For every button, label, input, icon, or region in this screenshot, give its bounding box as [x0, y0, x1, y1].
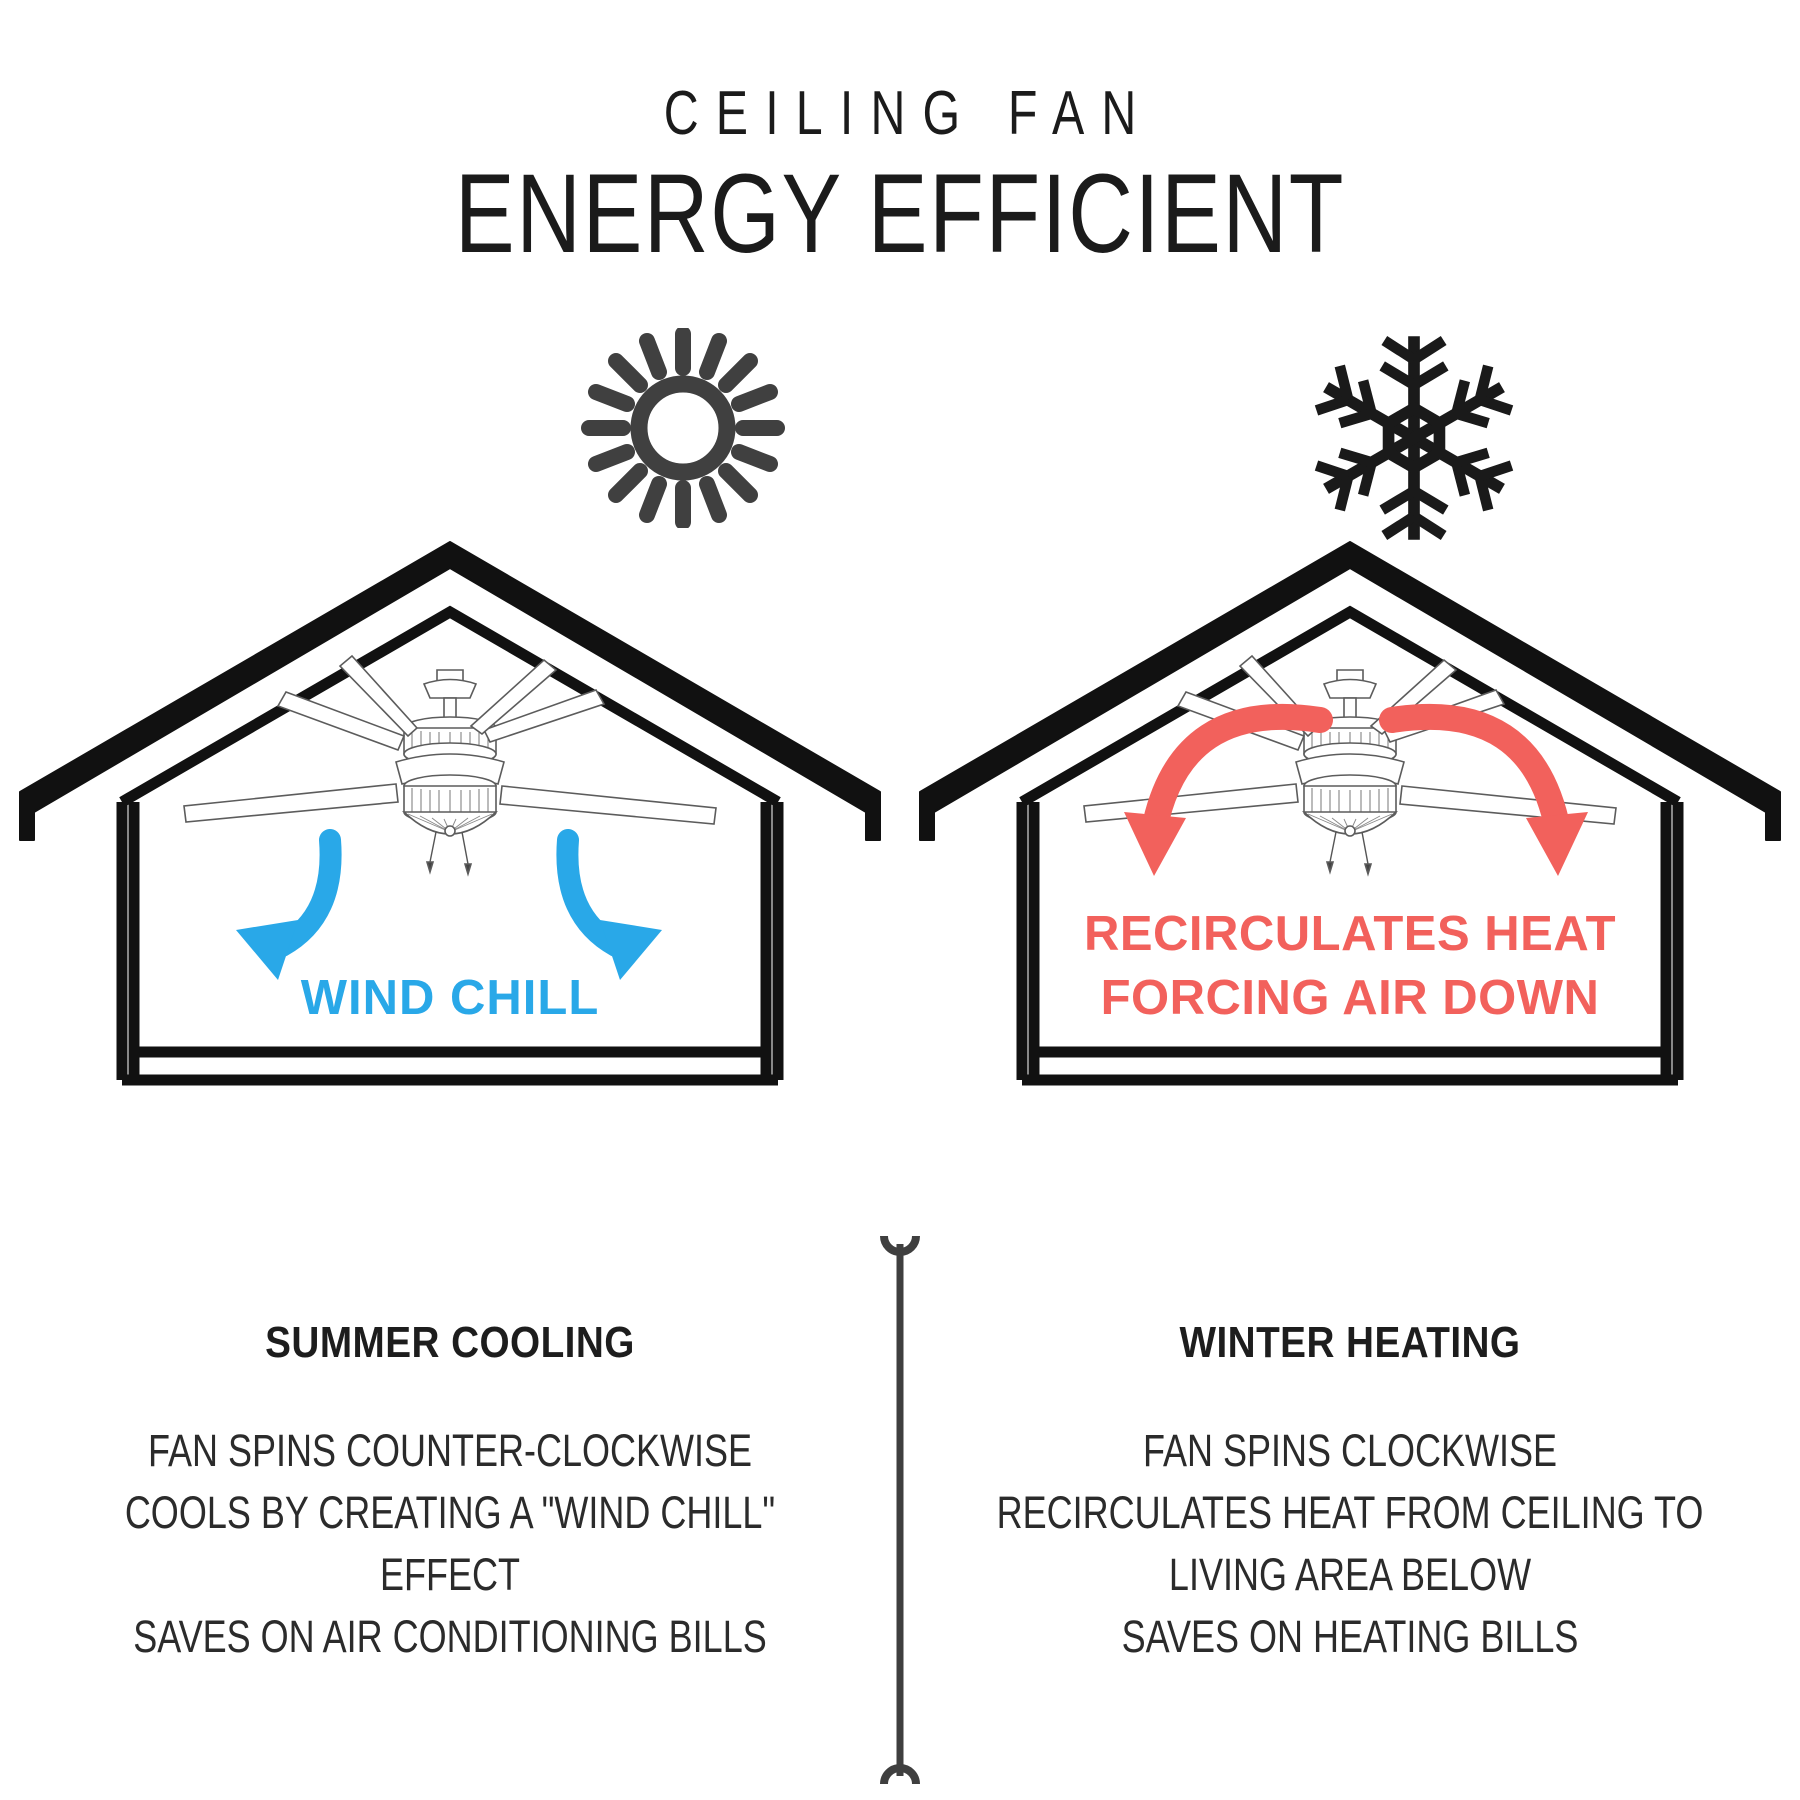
- caption-line: FAN SPINS COUNTER-CLOCKWISE: [90, 1420, 810, 1482]
- sun-icon: [578, 328, 788, 528]
- caption-body-winter: FAN SPINS CLOCKWISE RECIRCULATES HEAT FR…: [900, 1420, 1800, 1668]
- center-divider: [872, 1230, 928, 1790]
- winter-label-line-2: FORCING AIR DOWN: [1101, 971, 1600, 1025]
- airflow-arrows-summer: [282, 840, 616, 946]
- caption-line: COOLS BY CREATING A "WIND CHILL": [90, 1482, 810, 1544]
- caption-line: SAVES ON AIR CONDITIONING BILLS: [90, 1606, 810, 1668]
- house-winter: RECIRCULATES HEAT FORCING AIR DOWN: [900, 540, 1800, 1120]
- caption-heading-winter: WINTER HEATING: [954, 1318, 1746, 1368]
- wind-chill-label: WIND CHILL: [301, 971, 600, 1025]
- caption-line: FAN SPINS CLOCKWISE: [990, 1420, 1710, 1482]
- house-summer: WIND CHILL: [0, 540, 900, 1120]
- winter-label-line-1: RECIRCULATES HEAT: [1084, 907, 1616, 961]
- infographic-canvas: CEILING FAN ENERGY EFFICIENT: [0, 0, 1800, 1800]
- caption-heading-summer: SUMMER COOLING: [54, 1318, 846, 1368]
- caption-line: LIVING AREA BELOW: [990, 1544, 1710, 1606]
- snowflake-icon: [1308, 332, 1520, 544]
- fan-blade: [1084, 784, 1298, 822]
- panel-winter: RECIRCULATES HEAT FORCING AIR DOWN WINTE…: [900, 0, 1800, 1800]
- caption-line: EFFECT: [90, 1544, 810, 1606]
- caption-line: RECIRCULATES HEAT FROM CEILING TO: [990, 1482, 1710, 1544]
- caption-line: SAVES ON HEATING BILLS: [990, 1606, 1710, 1668]
- fan-blade: [184, 784, 398, 822]
- caption-body-summer: FAN SPINS COUNTER-CLOCKWISE COOLS BY CRE…: [0, 1420, 900, 1668]
- arrow-left-head: [1124, 812, 1186, 876]
- panel-summer: WIND CHILL SUMMER COOLING FAN SPINS COUN…: [0, 0, 900, 1800]
- ceiling-fan-illustration: [184, 656, 716, 874]
- fan-blade: [500, 786, 716, 824]
- arrow-right-head: [1526, 812, 1588, 876]
